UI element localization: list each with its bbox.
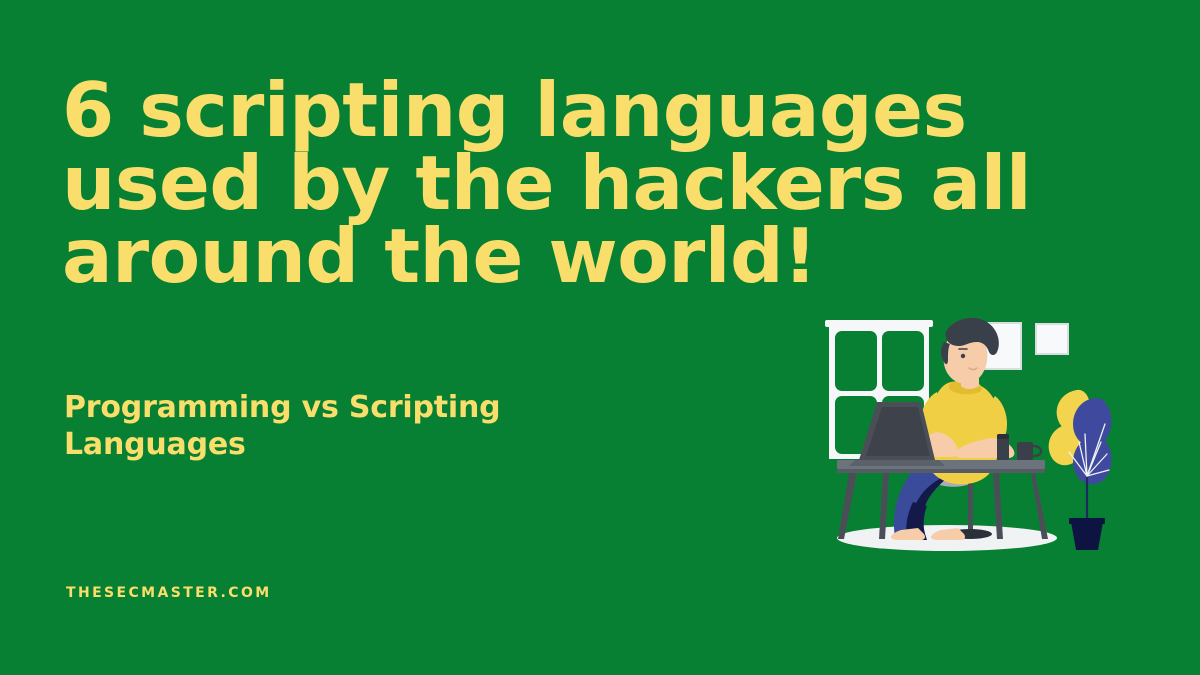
poster-canvas: 6 scripting languages used by the hacker… [0, 0, 1200, 675]
wall-frame-small-icon [1035, 323, 1069, 355]
headline-block: 6 scripting languages used by the hacker… [62, 74, 1072, 292]
travel-mug-icon [997, 434, 1009, 460]
subtitle: Programming vs Scripting Languages [64, 390, 624, 463]
workspace-illustration [805, 300, 1145, 600]
page-title: 6 scripting languages used by the hacker… [62, 74, 1072, 292]
brand-watermark: THESECMASTER.COM [66, 585, 272, 601]
